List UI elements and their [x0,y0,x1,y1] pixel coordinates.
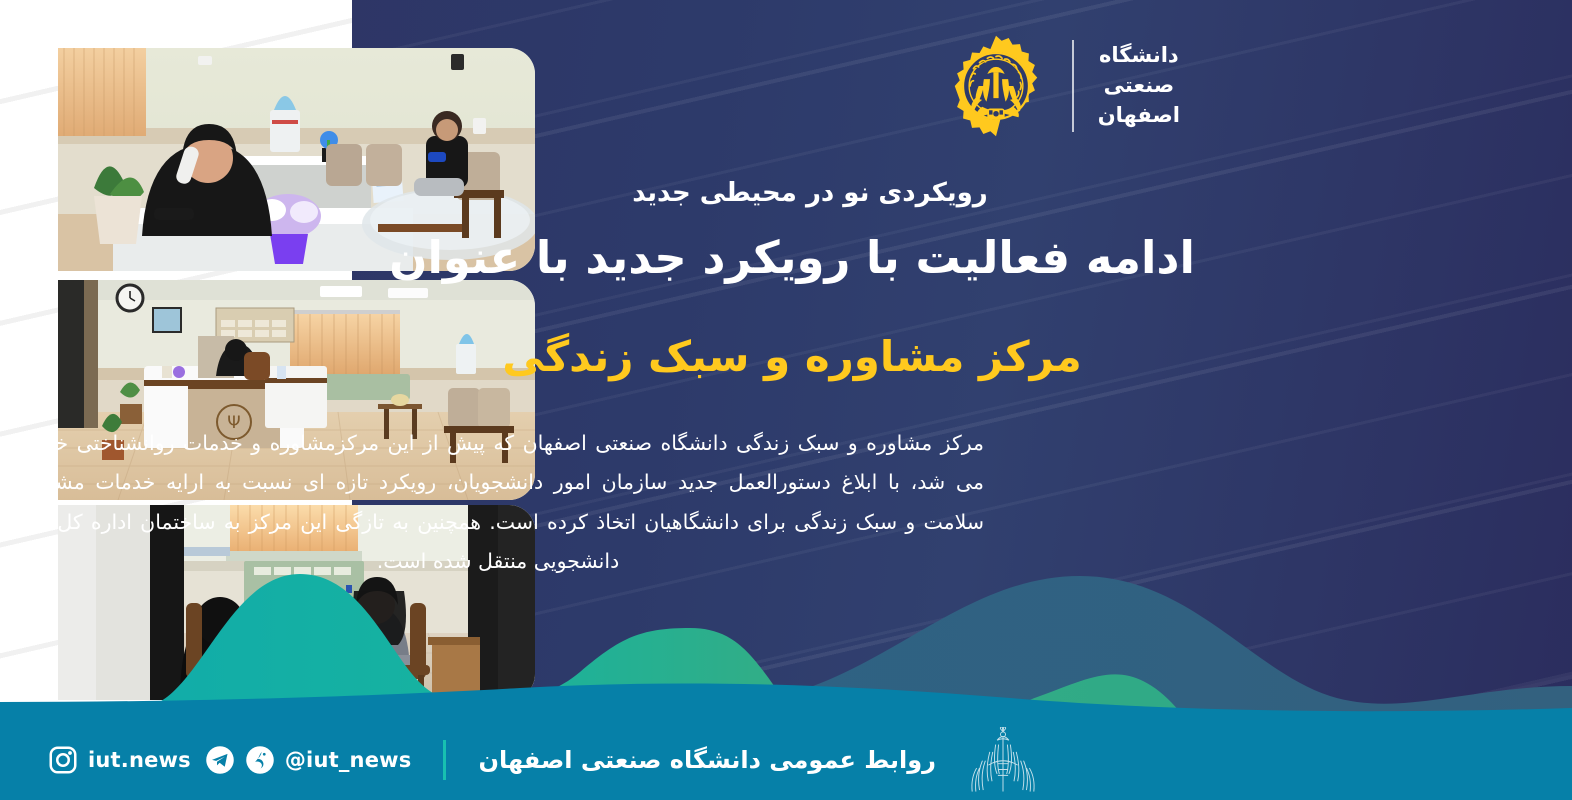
telegram-icon[interactable] [205,745,235,775]
brand-header: دانشگاه صنعتی اصفهان [944,34,1180,138]
footer-content: iut.news @iut_news روابط عمومی دانشگاه ص… [0,720,1572,800]
iut-gear-emblem-icon [944,34,1048,138]
iut-building-motif-icon [966,727,1040,793]
body-paragraph: مرکز مشاوره و سبک زندگی دانشگاه صنعتی اص… [12,424,984,581]
brand-divider [1072,40,1074,132]
bale-icon[interactable] [245,745,275,775]
kicker-text: رویکردی نو در محیطی جدید [400,178,1220,208]
university-name: دانشگاه صنعتی اصفهان [1098,41,1180,130]
instagram-icon[interactable] [48,745,78,775]
instagram-handle[interactable]: iut.news [88,748,191,772]
messenger-accounts[interactable]: @iut_news [205,745,412,775]
footer-divider [443,740,446,780]
instagram-account[interactable]: iut.news [48,745,191,775]
footer-bar-crest [0,680,1572,720]
public-relations-label: روابط عمومی دانشگاه صنعتی اصفهان [478,746,936,774]
page-title: ادامه فعالیت با رویکرد جدید با عنوان [342,228,1242,288]
subtitle-highlight: مرکز مشاوره و سبک زندگی [342,330,1242,385]
messenger-handle[interactable]: @iut_news [285,748,412,772]
poster-canvas: Ψ [0,0,1572,800]
